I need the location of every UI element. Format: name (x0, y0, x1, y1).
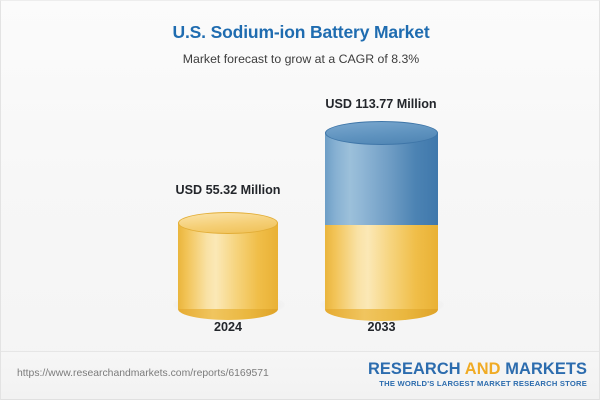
brand-logo-word-and: AND (465, 360, 505, 378)
brand-logo-tagline: THE WORLD'S LARGEST MARKET RESEARCH STOR… (368, 379, 587, 389)
bar-2024[interactable] (178, 212, 278, 309)
brand-logo[interactable]: RESEARCH AND MARKETS THE WORLD'S LARGEST… (368, 360, 587, 389)
brand-logo-word-research: RESEARCH (368, 360, 465, 378)
footer: https://www.researchandmarkets.com/repor… (1, 351, 600, 399)
bar-2033-yellow-body-mask (325, 225, 438, 309)
report-url[interactable]: https://www.researchandmarkets.com/repor… (17, 368, 269, 379)
brand-logo-word-markets: MARKETS (505, 360, 587, 378)
chart-card: U.S. Sodium-ion Battery Market Market fo… (0, 0, 600, 400)
bar-2033-blue-body (325, 133, 438, 225)
bar-2033-top-ellipse (325, 121, 438, 145)
value-label-2024: USD 55.32 Million (158, 183, 298, 197)
bar-2024-top-ellipse (178, 212, 278, 234)
plot-area: USD 55.32 Million 2024 USD 113.77 Millio… (1, 1, 600, 353)
bar-2033[interactable] (325, 121, 438, 309)
brand-logo-wordmark: RESEARCH AND MARKETS (368, 360, 587, 378)
category-label-2033: 2033 (325, 320, 438, 334)
bar-2024-body-mask (178, 223, 278, 309)
value-label-2033: USD 113.77 Million (311, 97, 451, 111)
category-label-2024: 2024 (178, 320, 278, 334)
